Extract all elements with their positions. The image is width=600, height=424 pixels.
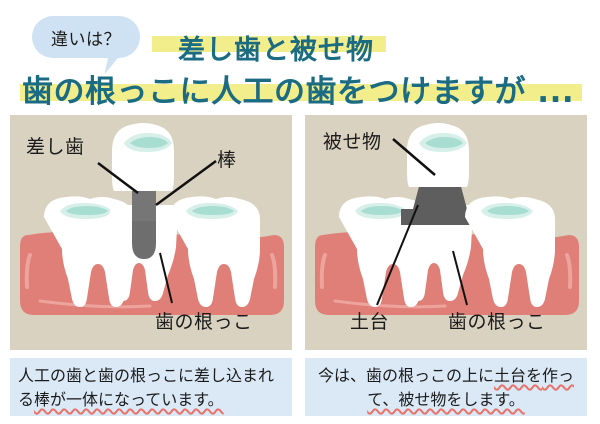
title-line-1-text: 差し歯と被せ物 [178, 35, 374, 66]
label-root-left: 歯の根っこ [155, 307, 253, 334]
caption-right-line1-underlined: 土台を [494, 366, 542, 385]
caption-left-line1: 人工の歯と歯の根っこに差し込 [18, 366, 242, 385]
infographic-root: 違いは？ 差し歯と被せ物 歯の根っこに人工の歯をつけますが ... [0, 0, 600, 424]
caption-left-line2-underlined: 棒が一体になっています。 [34, 390, 224, 409]
title-line-2: 歯の根っこに人工の歯をつけますが ... [22, 66, 574, 111]
title-line-2-text: 歯の根っこに人工の歯をつけますが ... [22, 74, 574, 110]
label-crown-left: 差し歯 [26, 132, 85, 159]
illustration-panel-right: 被せ物 土台 歯の根っこ [305, 115, 587, 350]
caption-left-text: 人工の歯と歯の根っこに差し込まれる棒が一体になっています。 [18, 364, 284, 412]
post-rod [132, 191, 156, 259]
caption-box-left: 人工の歯と歯の根っこに差し込まれる棒が一体になっています。 [10, 358, 292, 416]
question-speech-bubble: 違いは？ [32, 16, 140, 58]
label-abutment-right: 土台 [350, 307, 389, 334]
title-line-1: 差し歯と被せ物 [178, 28, 374, 67]
caption-right-line1-plain: 今は、歯の根っこの上に [318, 366, 494, 385]
artificial-crown [407, 123, 469, 187]
label-post-left: 棒 [217, 145, 237, 172]
illustration-panel-left: 差し歯 棒 歯の根っこ [10, 115, 292, 350]
label-crown-right: 被せ物 [323, 127, 382, 154]
caption-box-right: 今は、歯の根っこの上に土台を作って、被せ物をします。 [305, 358, 587, 416]
caption-right-text: 今は、歯の根っこの上に土台を作って、被せ物をします。 [313, 364, 579, 412]
label-root-right: 歯の根っこ [448, 307, 546, 334]
speech-bubble-text: 違いは？ [51, 25, 121, 50]
